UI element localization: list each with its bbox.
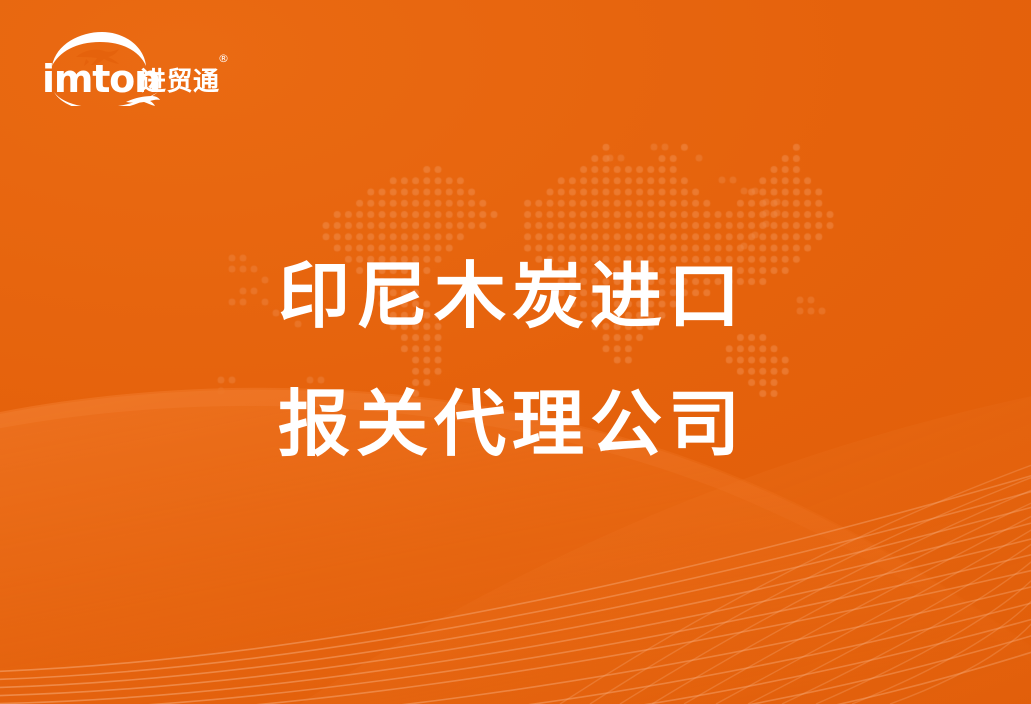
headline-block: 印尼木炭进口 报关代理公司: [278, 232, 758, 488]
headline-line-1: 印尼木炭进口: [278, 232, 758, 360]
headline-line-2: 报关代理公司: [278, 360, 758, 488]
promo-banner: imton 进贸通 ® 印尼木炭进口 报关代理公司: [0, 0, 1031, 704]
registered-trademark-icon: ®: [218, 52, 229, 65]
logo-mark: imton 进贸通 ®: [40, 30, 240, 106]
logo-chinese-name: 进贸通: [140, 67, 220, 97]
company-logo[interactable]: imton 进贸通 ®: [40, 30, 240, 106]
